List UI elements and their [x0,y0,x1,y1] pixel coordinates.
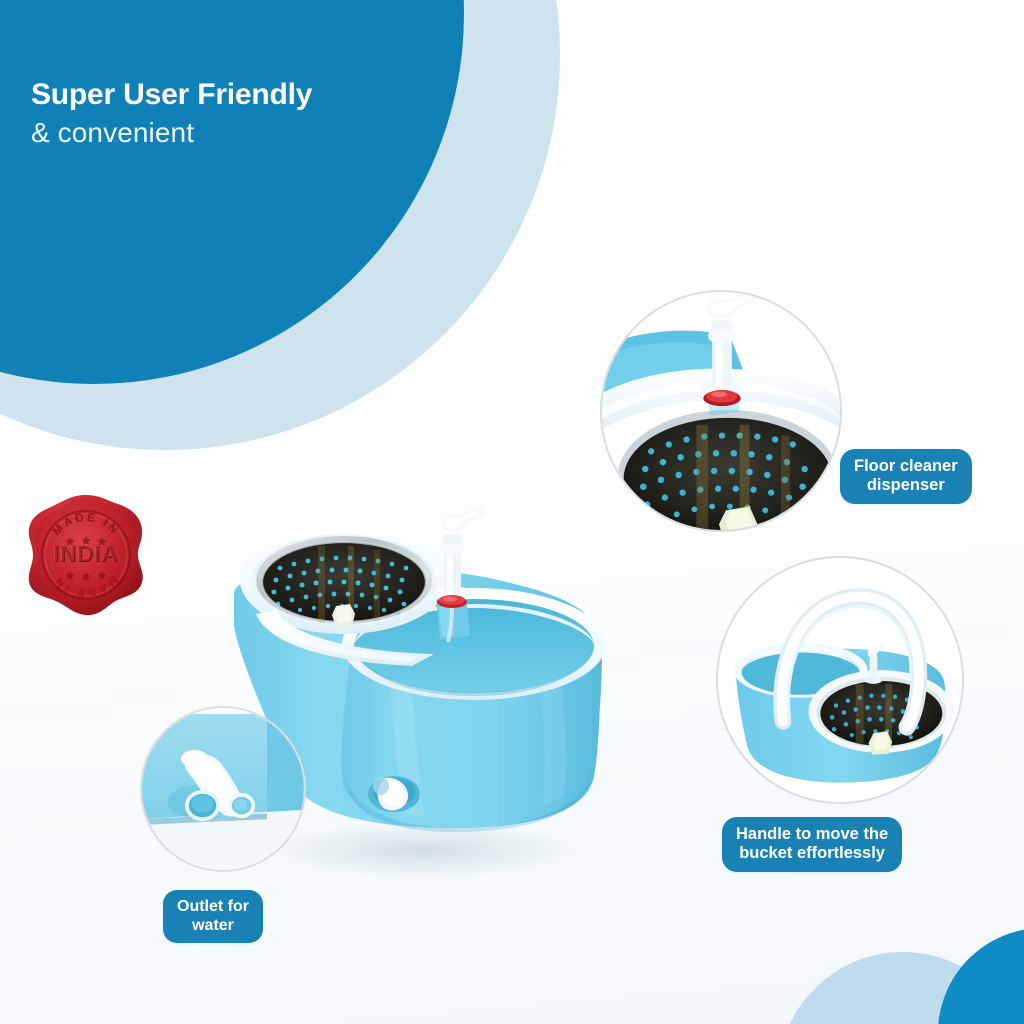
made-in-india-seal: MADE IN MADE IN INDIA INDIA [24,492,148,618]
label-bucket-handle: Handle to move the bucket effortlessly [722,817,902,872]
label-line-2: bucket effortlessly [736,844,888,863]
dispenser-closeup-illustration [602,292,840,530]
label-water-outlet: Outlet for water [163,890,263,943]
label-line-2: dispenser [854,476,958,495]
callout-bucket-handle [716,556,964,804]
label-line-2: water [177,917,249,936]
header-block: Super User Friendly & convenient [31,78,471,149]
page-subtitle: & convenient [31,116,471,150]
page-title: Super User Friendly [31,78,471,113]
label-floor-cleaner-dispenser: Floor cleaner dispenser [840,449,972,504]
outlet-closeup-illustration [142,708,304,870]
label-line-1: Outlet for [177,898,249,917]
callout-floor-cleaner-dispenser [600,290,842,532]
infographic-canvas: Super User Friendly & convenient [0,0,1024,1024]
wax-seal-icon: MADE IN MADE IN INDIA INDIA [24,492,148,618]
callout-water-outlet [140,706,306,872]
drain-outlet-detail [368,776,420,812]
svg-text:INDIA: INDIA [52,540,117,566]
handle-closeup-illustration [718,558,962,802]
label-line-1: Floor cleaner [854,457,958,476]
label-line-1: Handle to move the [736,825,888,844]
